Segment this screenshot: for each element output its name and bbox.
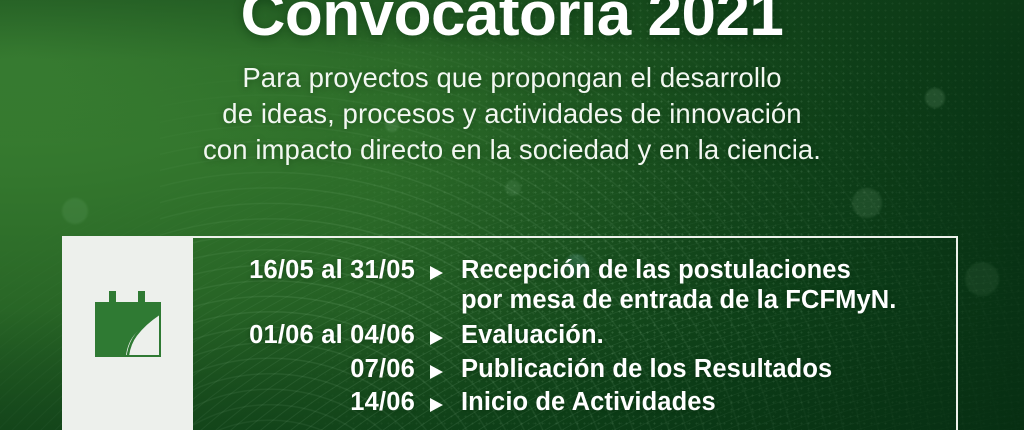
schedule-description-line-1: Evaluación. bbox=[461, 321, 604, 349]
schedule-description: Inicio de Actividades bbox=[461, 388, 956, 418]
schedule-list: 16/05 al 31/05 Recepción de las postulac… bbox=[193, 238, 956, 430]
schedule-row: 07/06 Publicación de los Resultados bbox=[193, 355, 956, 385]
schedule-description-line-2: por mesa de entrada de la FCFMyN. bbox=[461, 286, 956, 316]
right-triangle-icon bbox=[429, 256, 461, 281]
poster-canvas: Convocatoria 2021 Para proyectos que pro… bbox=[0, 0, 1024, 430]
page-title: Convocatoria 2021 bbox=[0, 0, 1024, 46]
right-triangle-icon bbox=[429, 388, 461, 413]
icon-panel bbox=[62, 236, 193, 430]
schedule-description: Evaluación. bbox=[461, 321, 956, 351]
schedule-row: 01/06 al 04/06 Evaluación. bbox=[193, 321, 956, 351]
schedule-description-line-1: Publicación de los Resultados bbox=[461, 355, 832, 383]
schedule-card: 16/05 al 31/05 Recepción de las postulac… bbox=[62, 236, 958, 430]
subtitle-line-1: Para proyectos que propongan el desarrol… bbox=[0, 60, 1024, 96]
poster-subtitle: Para proyectos que propongan el desarrol… bbox=[0, 60, 1024, 168]
schedule-date: 07/06 bbox=[193, 355, 429, 385]
right-triangle-icon bbox=[429, 355, 461, 380]
schedule-description: Publicación de los Resultados bbox=[461, 355, 956, 385]
calendar-leaf-icon bbox=[92, 290, 164, 358]
schedule-description: Recepción de las postulaciones por mesa … bbox=[461, 256, 956, 315]
right-triangle-icon bbox=[429, 321, 461, 346]
schedule-description-line-1: Inicio de Actividades bbox=[461, 388, 716, 416]
schedule-description-line-1: Recepción de las postulaciones bbox=[461, 256, 851, 284]
schedule-row: 16/05 al 31/05 Recepción de las postulac… bbox=[193, 256, 956, 315]
schedule-date: 01/06 al 04/06 bbox=[193, 321, 429, 351]
schedule-row: 14/06 Inicio de Actividades bbox=[193, 388, 956, 418]
subtitle-line-2: de ideas, procesos y actividades de inno… bbox=[0, 96, 1024, 132]
subtitle-line-3: con impacto directo en la sociedad y en … bbox=[0, 132, 1024, 168]
schedule-date: 16/05 al 31/05 bbox=[193, 256, 429, 286]
schedule-date: 14/06 bbox=[193, 388, 429, 418]
headline-block: Convocatoria 2021 Para proyectos que pro… bbox=[0, 0, 1024, 168]
